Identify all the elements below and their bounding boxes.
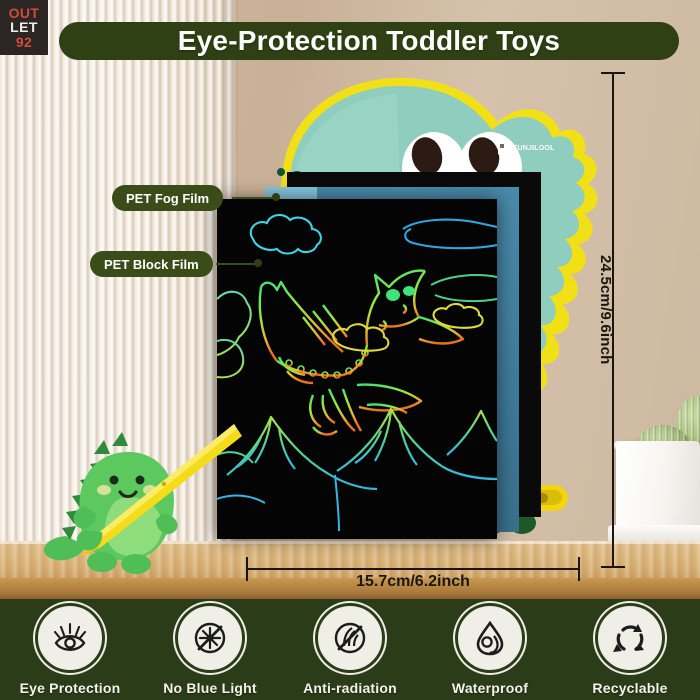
anti-radiation-icon-ring: [318, 606, 382, 670]
bush-right: [434, 304, 483, 328]
callout-pet-block-film[interactable]: PET Block Film: [90, 251, 213, 277]
callout-pet-block-film-label: PET Block Film: [104, 257, 199, 272]
callout-2-dot: [254, 259, 262, 267]
callout-pet-fog-film-label: PET Fog Film: [126, 191, 209, 206]
callout-pet-fog-film[interactable]: PET Fog Film: [112, 185, 223, 211]
title-banner: Eye-Protection Toddler Toys: [59, 22, 679, 60]
callout-2-leader: [216, 263, 258, 265]
outlet92-logo: OUT LET 92: [0, 0, 48, 55]
product-marketing-image: OUT LET 92 Eye-Protection Toddler Toys: [0, 0, 700, 700]
logo-line-1: OUT: [9, 6, 40, 20]
eye-icon: [52, 621, 88, 655]
height-dimension-tick-bottom: [601, 566, 625, 568]
width-dimension-label: 15.7cm/6.2inch: [246, 573, 580, 591]
feature-anti-radiation-label: Anti-radiation: [303, 680, 397, 696]
device-brand-mark: TUNJILOOL: [498, 142, 554, 155]
feature-bar: Eye Protection No Blue Light: [0, 599, 700, 700]
callout-1-leader: [232, 197, 276, 199]
feature-recyclable: Recyclable: [560, 599, 700, 696]
device-brand-label: TUNJILOOL: [513, 145, 554, 152]
height-dimension-label: 24.5cm/9.6inch: [597, 255, 614, 365]
feature-eye-protection-label: Eye Protection: [20, 680, 121, 696]
width-dimension-line: [246, 568, 580, 570]
feature-recyclable-label: Recyclable: [592, 680, 667, 696]
logo-line-2: LET: [10, 20, 38, 34]
eye-icon-ring: [38, 606, 102, 670]
recycle-icon-ring: [598, 606, 662, 670]
feature-waterproof-label: Waterproof: [452, 680, 528, 696]
anti-radiation-icon: [332, 620, 368, 656]
feature-waterproof: Waterproof: [420, 599, 560, 696]
recycle-icon: [612, 620, 648, 656]
feature-no-blue-light-label: No Blue Light: [163, 680, 257, 696]
bush-center: [333, 324, 388, 350]
no-blue-light-icon: [192, 620, 228, 656]
feature-anti-radiation: Anti-radiation: [280, 599, 420, 696]
page-title: Eye-Protection Toddler Toys: [178, 25, 560, 57]
waterproof-icon-ring: [458, 606, 522, 670]
neon-drawing: [217, 199, 497, 539]
waterproof-droplet-icon: [473, 620, 507, 656]
pterodactyl-drawing: [260, 271, 463, 435]
logo-line-3: 92: [16, 35, 32, 49]
cloud-left: [251, 215, 321, 254]
feature-no-blue-light: No Blue Light: [140, 599, 280, 696]
feature-eye-protection: Eye Protection: [0, 599, 140, 696]
callout-1-dot: [272, 193, 280, 201]
lcd-drawing-screen[interactable]: [217, 199, 497, 539]
no-blue-light-icon-ring: [178, 606, 242, 670]
dino-mascot: [36, 418, 246, 578]
